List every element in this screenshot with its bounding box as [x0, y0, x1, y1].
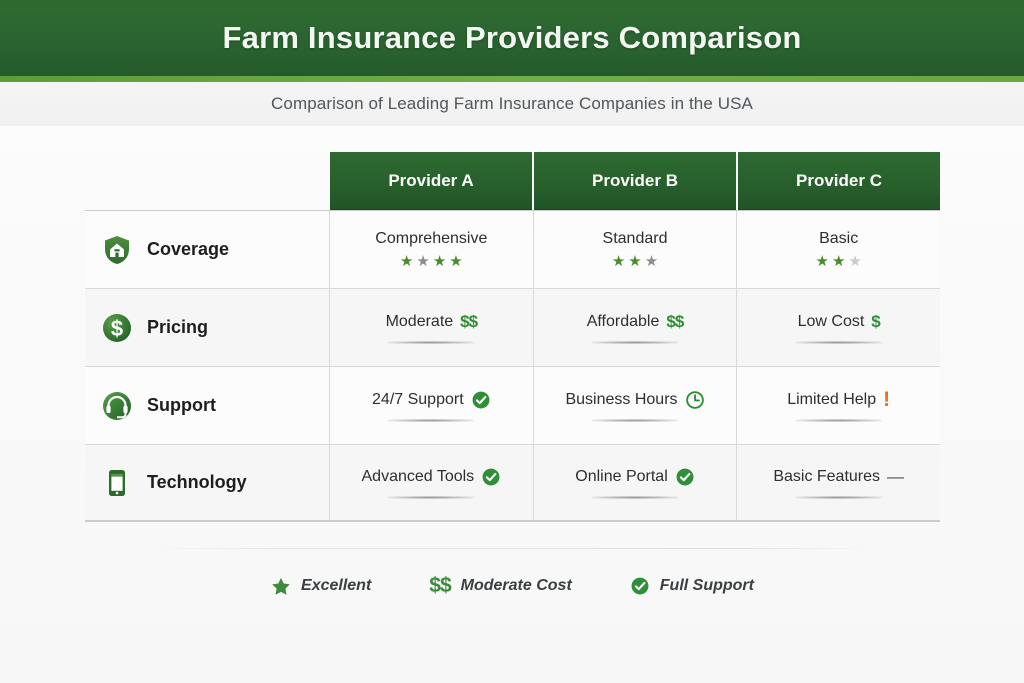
cell-coverage-provider-c: Basic★★★ — [737, 211, 940, 288]
cell-value: Moderate — [386, 313, 454, 331]
cell-value: Affordable — [587, 313, 660, 331]
legend-item: Full Support — [630, 576, 754, 596]
table-row: TechnologyAdvanced ToolsOnline PortalBas… — [85, 444, 940, 522]
cell-text: Advanced Tools — [362, 467, 502, 487]
rating-star: ★ — [816, 254, 829, 269]
cell-pricing-provider-c: Low Cost$ — [737, 289, 940, 366]
cell-underline — [592, 419, 678, 422]
cell-text: Online Portal — [575, 467, 695, 487]
cell-value: Limited Help — [787, 391, 876, 409]
row-category-label: Coverage — [147, 239, 229, 260]
cell-underline — [796, 419, 882, 422]
cell-underline — [592, 341, 678, 344]
table-corner-cell — [85, 152, 330, 210]
cell-underline — [796, 341, 882, 344]
cell-text: Limited Help! — [787, 389, 890, 410]
cell-value: Advanced Tools — [362, 468, 475, 486]
check-circle-icon — [471, 390, 491, 410]
legend-label: Moderate Cost — [461, 577, 572, 595]
cell-value: Comprehensive — [375, 230, 487, 248]
cell-text: Low Cost$ — [798, 312, 880, 332]
rating-star: ★ — [848, 254, 861, 269]
svg-text:$: $ — [111, 316, 123, 341]
cell-text: Moderate$$ — [386, 312, 478, 332]
cell-underline — [388, 496, 474, 499]
column-header-provider-a[interactable]: Provider A — [330, 152, 534, 210]
cell-text: Business Hours — [565, 390, 704, 410]
cost-indicator: $ — [871, 312, 879, 332]
cell-coverage-provider-a: Comprehensive★★★★ — [330, 211, 534, 288]
table-row: Support24/7 SupportBusiness HoursLimited… — [85, 366, 940, 444]
dollar-icon: $$ — [429, 574, 450, 598]
rating-star: ★ — [400, 254, 413, 269]
cell-technology-provider-b: Online Portal — [534, 445, 738, 520]
neutral-dash-icon: — — [887, 467, 904, 487]
shield-home-icon — [101, 234, 133, 266]
cell-underline — [796, 496, 882, 499]
page-title: Farm Insurance Providers Comparison — [223, 20, 802, 56]
cell-support-provider-b: Business Hours — [534, 367, 738, 444]
headset-icon — [101, 390, 133, 422]
cell-value: Low Cost — [798, 313, 865, 331]
table-body: CoverageComprehensive★★★★Standard★★★Basi… — [85, 210, 940, 522]
header-banner: Farm Insurance Providers Comparison — [0, 0, 1024, 76]
rating-star: ★ — [449, 254, 462, 269]
cell-value: Online Portal — [575, 468, 668, 486]
row-category-support: Support — [85, 367, 330, 444]
row-category-label: Pricing — [147, 317, 208, 338]
star-rating: ★★★ — [816, 254, 862, 269]
legend-label: Full Support — [660, 577, 754, 595]
rating-star: ★ — [645, 254, 658, 269]
cell-value: Standard — [603, 230, 668, 248]
cost-indicator: $$ — [460, 312, 477, 332]
table-row: CoverageComprehensive★★★★Standard★★★Basi… — [85, 210, 940, 288]
legend-label: Excellent — [301, 577, 371, 595]
cell-text: 24/7 Support — [372, 390, 491, 410]
cell-technology-provider-c: Basic Features— — [737, 445, 940, 520]
legend-item: $$Moderate Cost — [429, 574, 571, 598]
cell-value: Basic Features — [773, 468, 880, 486]
cell-pricing-provider-b: Affordable$$ — [534, 289, 738, 366]
page-subtitle: Comparison of Leading Farm Insurance Com… — [271, 94, 753, 114]
cell-coverage-provider-b: Standard★★★ — [534, 211, 738, 288]
clock-icon — [685, 390, 705, 410]
star-rating: ★★★★ — [400, 254, 463, 269]
star-rating: ★★★ — [612, 254, 658, 269]
infographic-page: Farm Insurance Providers Comparison Comp… — [0, 0, 1024, 683]
cell-text: Basic Features— — [773, 467, 904, 487]
cell-value: Business Hours — [565, 391, 677, 409]
table-header-row: Provider A Provider B Provider C — [85, 152, 940, 210]
cell-underline — [388, 341, 474, 344]
cell-underline — [592, 496, 678, 499]
comparison-table: Provider A Provider B Provider C Coverag… — [85, 152, 940, 522]
row-category-coverage: Coverage — [85, 211, 330, 288]
column-header-provider-c[interactable]: Provider C — [738, 152, 940, 210]
cell-value: Basic — [819, 230, 858, 248]
cell-value: 24/7 Support — [372, 391, 464, 409]
legend-divider — [150, 548, 875, 549]
row-category-label: Technology — [147, 472, 247, 493]
cell-support-provider-c: Limited Help! — [737, 367, 940, 444]
smartphone-icon — [101, 467, 133, 499]
row-category-pricing: $Pricing — [85, 289, 330, 366]
legend-item: Excellent — [271, 576, 371, 596]
cell-text: Affordable$$ — [587, 312, 684, 332]
star-icon — [271, 576, 291, 596]
cost-indicator: $$ — [666, 312, 683, 332]
row-category-label: Support — [147, 395, 216, 416]
rating-star: ★ — [628, 254, 641, 269]
cell-text: Comprehensive — [375, 230, 487, 248]
cell-pricing-provider-a: Moderate$$ — [330, 289, 534, 366]
column-header-provider-b[interactable]: Provider B — [534, 152, 738, 210]
rating-star: ★ — [416, 254, 429, 269]
dollar-circle-icon: $ — [101, 312, 133, 344]
cell-text: Basic — [819, 230, 858, 248]
warning-exclamation-icon: ! — [883, 389, 890, 410]
subtitle-bar: Comparison of Leading Farm Insurance Com… — [0, 82, 1024, 126]
check-circle-icon — [630, 576, 650, 596]
check-circle-icon — [675, 467, 695, 487]
legend: Excellent$$Moderate CostFull Support — [85, 565, 940, 607]
row-category-technology: Technology — [85, 445, 330, 520]
table-row: $PricingModerate$$Affordable$$Low Cost$ — [85, 288, 940, 366]
check-circle-icon — [481, 467, 501, 487]
cell-text: Standard — [603, 230, 668, 248]
rating-star: ★ — [433, 254, 446, 269]
rating-star: ★ — [612, 254, 625, 269]
cell-underline — [388, 419, 474, 422]
cell-technology-provider-a: Advanced Tools — [330, 445, 534, 520]
rating-star: ★ — [832, 254, 845, 269]
cell-support-provider-a: 24/7 Support — [330, 367, 534, 444]
